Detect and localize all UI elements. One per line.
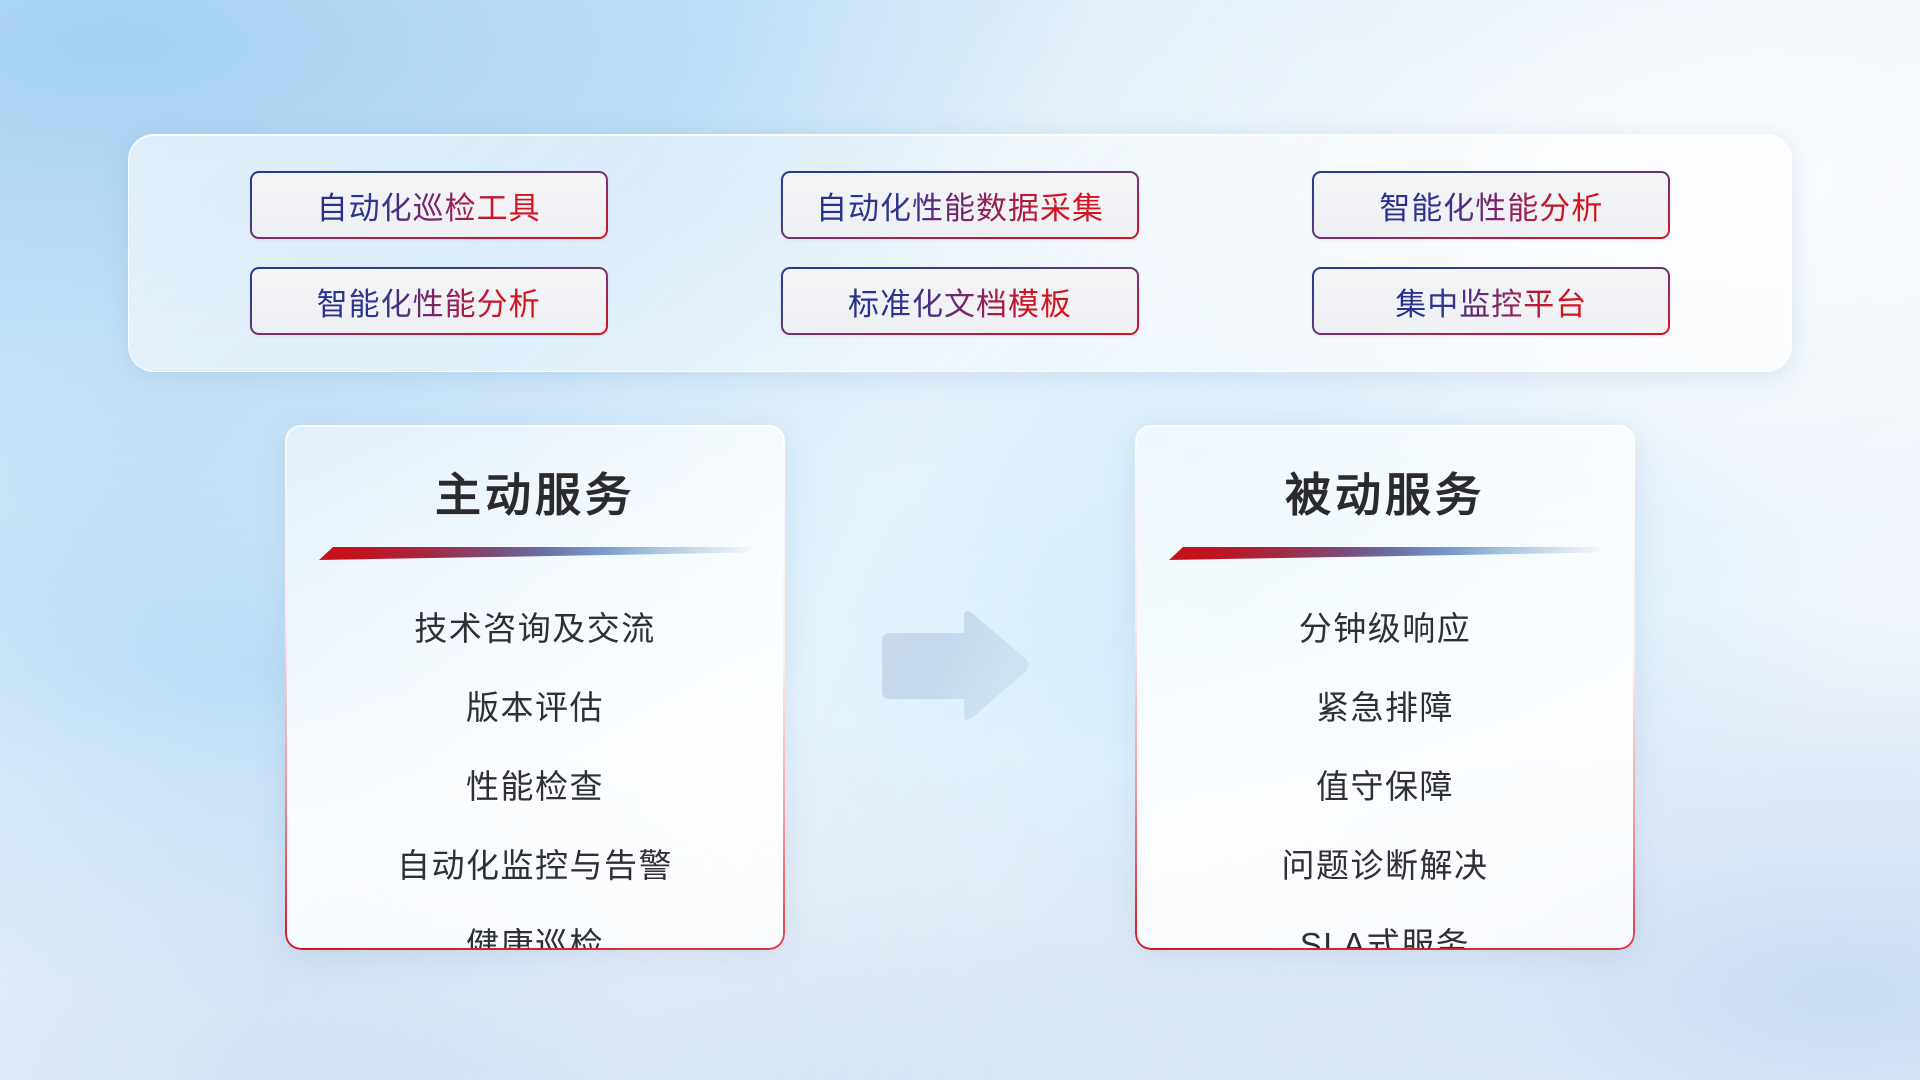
- capability-tag-label: 智能化性能分析: [1379, 183, 1603, 228]
- capability-tag-label: 自动化巡检工具: [317, 183, 541, 228]
- service-card-reactive[interactable]: 被动服务 分钟级响应 紧急排障 值守保障 问题诊断解决 SLA式服务: [1135, 425, 1635, 950]
- capability-tag-panel: 自动化巡检工具 自动化性能数据采集 智能化性能分析 智能化性能分析 标准化文档模…: [128, 134, 1792, 372]
- capability-tag-label: 标准化文档模板: [848, 279, 1072, 324]
- service-list-item: 版本评估: [466, 677, 604, 738]
- capability-tag-3[interactable]: 智能化性能分析: [250, 267, 608, 335]
- capability-tag-2[interactable]: 智能化性能分析: [1312, 171, 1670, 239]
- service-list-item: SLA式服务: [1300, 914, 1470, 950]
- card-title-divider: [319, 547, 751, 560]
- service-list-item: 健康巡检: [466, 914, 604, 950]
- divider-gradient-bar: [319, 547, 751, 560]
- divider-gradient-bar: [1169, 547, 1601, 560]
- service-list-item: 紧急排障: [1316, 677, 1454, 738]
- service-list-item: 性能检查: [466, 756, 604, 817]
- service-list-item: 分钟级响应: [1299, 598, 1472, 659]
- service-list-item: 自动化监控与告警: [397, 835, 673, 896]
- capability-tag-label: 集中监控平台: [1395, 279, 1587, 324]
- capability-tag-0[interactable]: 自动化巡检工具: [250, 171, 608, 239]
- card-title: 被动服务: [1135, 459, 1635, 525]
- service-card-proactive[interactable]: 主动服务 技术咨询及交流 版本评估 性能检查 自动化监控与告警 健康巡检: [285, 425, 785, 950]
- capability-tag-4[interactable]: 标准化文档模板: [781, 267, 1139, 335]
- service-list-item: 技术咨询及交流: [414, 598, 656, 659]
- service-item-list: 分钟级响应 紧急排障 值守保障 问题诊断解决 SLA式服务: [1135, 598, 1635, 950]
- card-title: 主动服务: [285, 459, 785, 525]
- card-title-divider: [1169, 547, 1601, 560]
- capability-tag-1[interactable]: 自动化性能数据采集: [781, 171, 1139, 239]
- capability-tag-label: 自动化性能数据采集: [816, 183, 1104, 228]
- service-list-item: 问题诊断解决: [1282, 835, 1489, 896]
- service-list-item: 值守保障: [1316, 756, 1454, 817]
- service-item-list: 技术咨询及交流 版本评估 性能检查 自动化监控与告警 健康巡检: [285, 598, 785, 950]
- capability-tag-5[interactable]: 集中监控平台: [1312, 267, 1670, 335]
- capability-tag-label: 智能化性能分析: [317, 279, 541, 324]
- arrow-right-icon: [872, 608, 1032, 724]
